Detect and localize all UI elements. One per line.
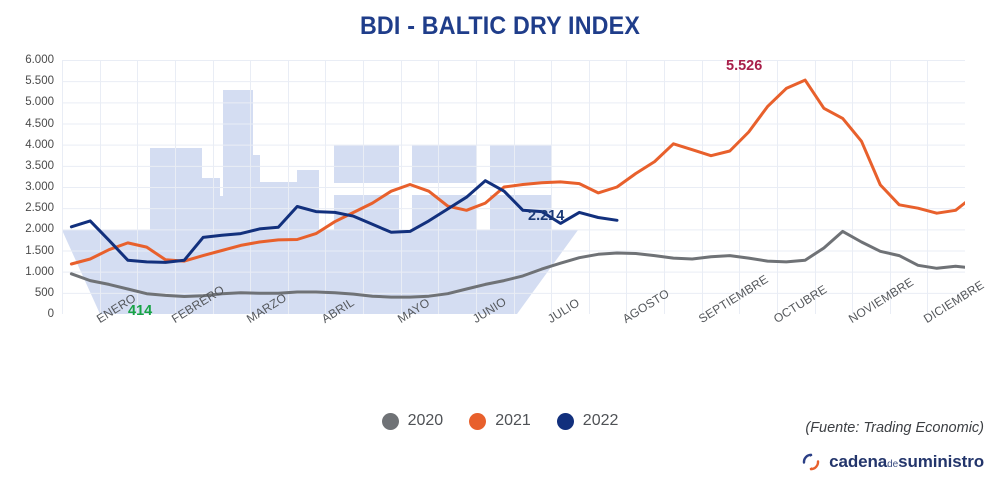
legend-swatch-icon [382, 413, 399, 430]
y-tick-label: 500 [35, 287, 54, 299]
y-tick-label: 6.000 [25, 54, 54, 66]
y-tick-label: 1.500 [25, 245, 54, 257]
legend-item-2021[interactable]: 2021 [469, 412, 531, 430]
y-tick-label: 4.000 [25, 139, 54, 151]
y-tick-label: 2.500 [25, 202, 54, 214]
legend-item-2020[interactable]: 2020 [382, 412, 444, 430]
logo-word-cadena: cadena [829, 452, 887, 471]
chart-root: BDI - BALTIC DRY INDEX 05001.0001.5002.0… [0, 0, 1000, 500]
y-tick-label: 5.500 [25, 75, 54, 87]
y-axis: 05001.0001.5002.0002.5003.0003.5004.0004… [0, 0, 62, 330]
series-lines [62, 60, 965, 314]
y-tick-label: 1.000 [25, 266, 54, 278]
y-tick-label: 5.000 [25, 96, 54, 108]
y-tick-label: 3.000 [25, 181, 54, 193]
y-tick-label: 2.000 [25, 223, 54, 235]
legend-item-2022[interactable]: 2022 [557, 412, 619, 430]
legend-label: 2022 [583, 412, 619, 430]
y-tick-label: 3.500 [25, 160, 54, 172]
y-tick-label: 4.500 [25, 118, 54, 130]
legend-label: 2020 [408, 412, 444, 430]
source-note: (Fuente: Trading Economic) [805, 420, 984, 436]
legend-swatch-icon [469, 413, 486, 430]
legend-label: 2021 [495, 412, 531, 430]
plot-area [62, 60, 965, 314]
page-title: BDI - BALTIC DRY INDEX [35, 12, 965, 41]
logo-word-suministro: suministro [898, 452, 984, 471]
last-2022-label: 2.214 [528, 208, 564, 224]
series-line-2020 [71, 231, 965, 297]
circular-arrow-icon [801, 452, 821, 472]
logo-wordmark: cadenadesuministro [829, 452, 984, 472]
peak-2021-label: 5.526 [726, 58, 762, 74]
legend-swatch-icon [557, 413, 574, 430]
brand-logo[interactable]: cadenadesuministro [801, 452, 984, 472]
min-2020-label: 414 [128, 303, 152, 319]
logo-word-de: de [887, 459, 898, 470]
x-axis: ENEROFEBREROMARZOABRILMAYOJUNIOJULIOAGOS… [0, 314, 1000, 394]
